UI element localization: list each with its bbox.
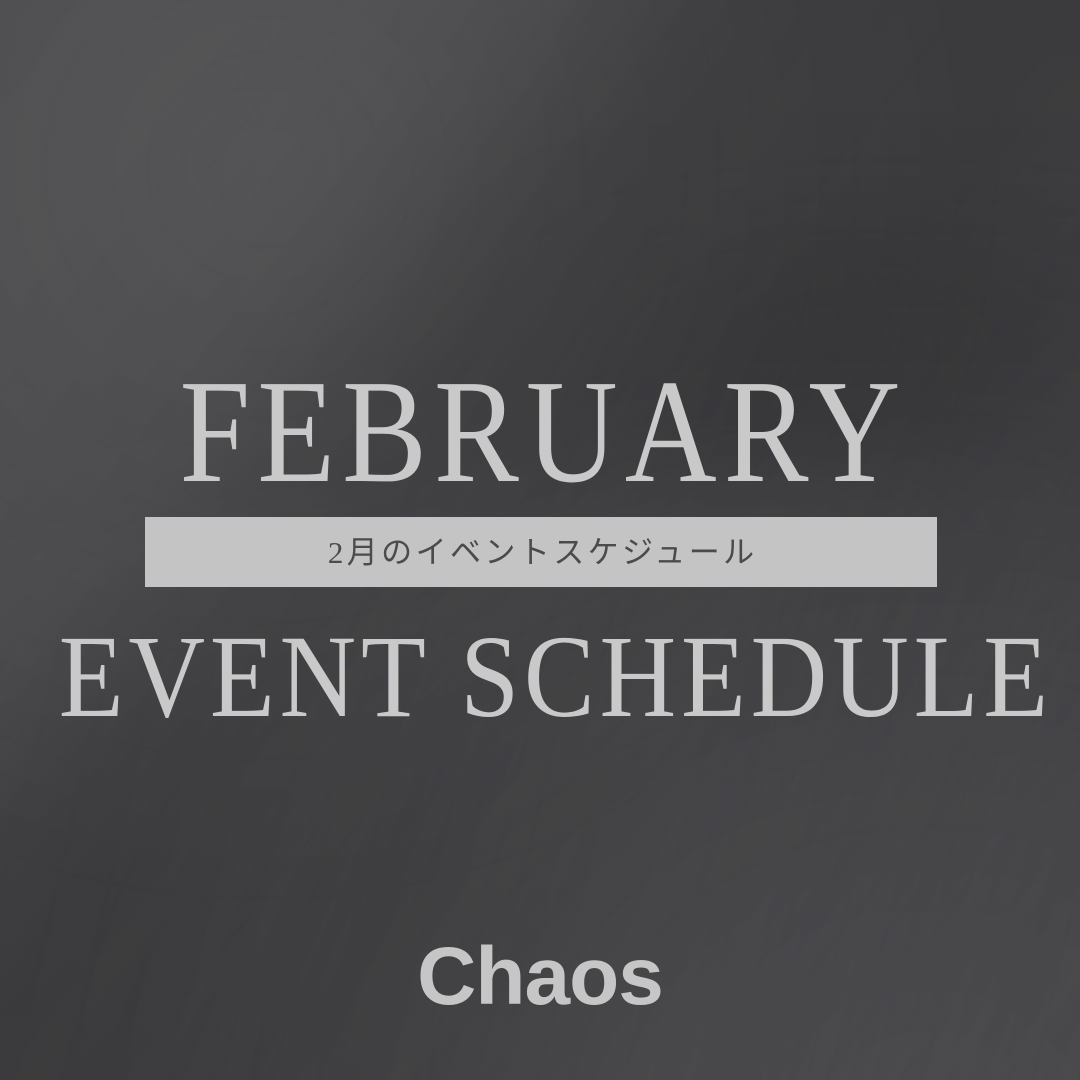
event-schedule-poster: FEBRUARY 2月のイベントスケジュール EVENT SCHEDULE Ch… — [0, 0, 1080, 1080]
brand-logo: Chaos — [0, 936, 1080, 1018]
month-title: FEBRUARY — [76, 358, 1005, 506]
subtitle-text: 2月のイベントスケジュール — [324, 537, 757, 568]
subtitle-banner: 2月のイベントスケジュール — [145, 517, 937, 587]
poster-content: FEBRUARY 2月のイベントスケジュール EVENT SCHEDULE Ch… — [0, 0, 1080, 1080]
section-title: EVENT SCHEDULE — [54, 618, 1026, 736]
